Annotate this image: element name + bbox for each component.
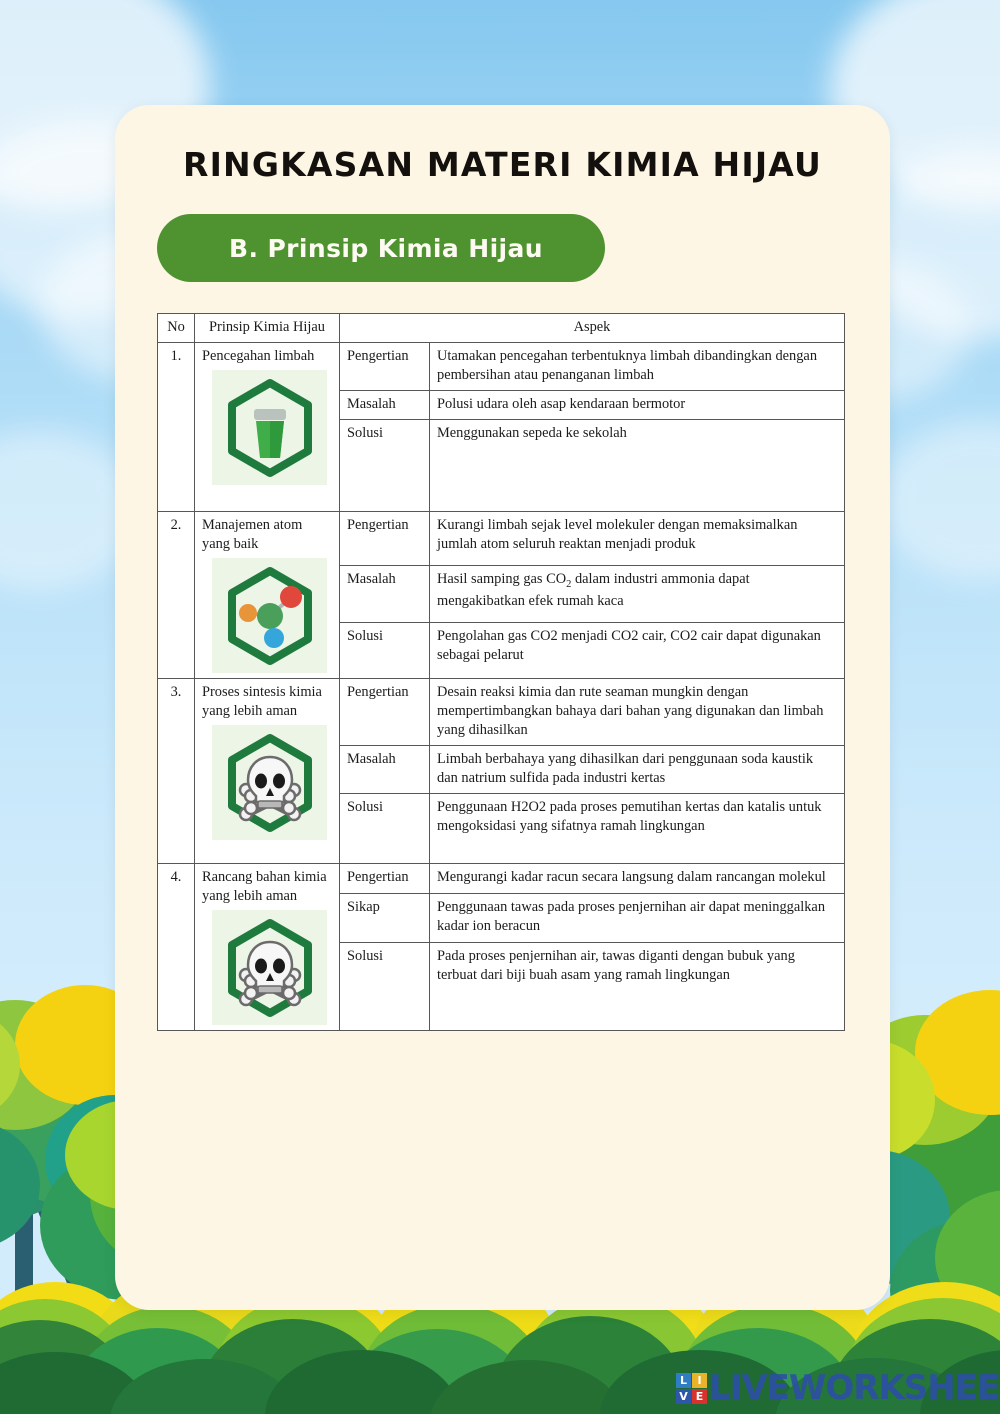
liveworksheets-watermark: L I V E LIVEWORKSHEETS [676,1368,1000,1408]
aspect-label: Pengertian [340,512,430,566]
worksheet-card: RINGKASAN MATERI KIMIA HIJAU B. Prinsip … [115,105,890,1310]
col-header-no: No [158,314,195,343]
principle-cell: Rancang bahan kimia yang lebih aman [195,864,340,1031]
aspect-label: Sikap [340,893,430,942]
aspect-text: Pada proses penjernihan air, tawas digan… [430,943,845,1031]
aspect-label: Masalah [340,391,430,420]
aspect-label: Masalah [340,566,430,623]
aspect-label: Solusi [340,943,430,1031]
live-block-i: I [692,1373,707,1388]
aspect-text: Limbah berbahaya yang dihasilkan dari pe… [430,746,845,794]
aspect-label: Solusi [340,420,430,512]
table-row: 2. Manajemen atom yang baik [158,512,845,566]
principle-cell: Pencegahan limbah [195,343,340,512]
live-block-v: V [676,1389,691,1404]
live-blocks-logo: L I V E [676,1373,707,1404]
aspect-text: Kurangi limbah sejak level molekuler den… [430,512,845,566]
table-row: 4. Rancang bahan kimia yang lebih aman [158,864,845,894]
row-number: 4. [158,864,195,1031]
aspect-label: Pengertian [340,864,430,894]
row-number: 3. [158,679,195,864]
principle-name: Pencegahan limbah [202,347,332,366]
principle-name: Rancang bahan kimia yang lebih aman [202,868,332,906]
aspect-label: Masalah [340,746,430,794]
live-block-e: E [692,1389,707,1404]
trash-bin-hexagon-icon [212,370,327,485]
col-header-principle: Prinsip Kimia Hijau [195,314,340,343]
row-number: 1. [158,343,195,512]
aspect-text: Desain reaksi kimia dan rute seaman mung… [430,679,845,746]
page-title: RINGKASAN MATERI KIMIA HIJAU [115,105,890,184]
col-header-aspect: Aspek [340,314,845,343]
aspect-text: Menggunakan sepeda ke sekolah [430,420,845,512]
molecule-hexagon-icon [212,558,327,673]
aspect-text: Pengolahan gas CO2 menjadi CO2 cair, CO2… [430,623,845,679]
skull-crossbones-hexagon-icon [212,725,327,840]
principles-table-wrap: No Prinsip Kimia Hijau Aspek 1. Pencegah… [157,313,845,1031]
section-pill: B. Prinsip Kimia Hijau [157,214,605,282]
aspect-text: Polusi udara oleh asap kendaraan bermoto… [430,391,845,420]
principles-table: No Prinsip Kimia Hijau Aspek 1. Pencegah… [157,313,845,1031]
skull-crossbones-hexagon-icon [212,910,327,1025]
aspect-text: Penggunaan tawas pada proses penjernihan… [430,893,845,942]
table-row: 3. Proses sintesis kimia yang lebih aman [158,679,845,746]
table-header-row: No Prinsip Kimia Hijau Aspek [158,314,845,343]
section-pill-label: B. Prinsip Kimia Hijau [157,234,543,263]
principle-cell: Proses sintesis kimia yang lebih aman [195,679,340,864]
aspect-text: Hasil samping gas CO2 dalam industri amm… [430,566,845,623]
aspect-label: Pengertian [340,679,430,746]
live-block-l: L [676,1373,691,1388]
aspect-text: Penggunaan H2O2 pada proses pemutihan ke… [430,794,845,864]
row-number: 2. [158,512,195,679]
table-row: 1. Pencegahan limbah Pengertian [158,343,845,391]
aspect-label: Pengertian [340,343,430,391]
aspect-label: Solusi [340,623,430,679]
aspect-label: Solusi [340,794,430,864]
principle-name: Manajemen atom yang baik [202,516,332,554]
principle-name: Proses sintesis kimia yang lebih aman [202,683,332,721]
aspect-text: Utamakan pencegahan terbentuknya limbah … [430,343,845,391]
aspect-text: Mengurangi kadar racun secara langsung d… [430,864,845,894]
principle-cell: Manajemen atom yang baik [195,512,340,679]
watermark-text: LIVEWORKSHEETS [709,1368,1000,1408]
